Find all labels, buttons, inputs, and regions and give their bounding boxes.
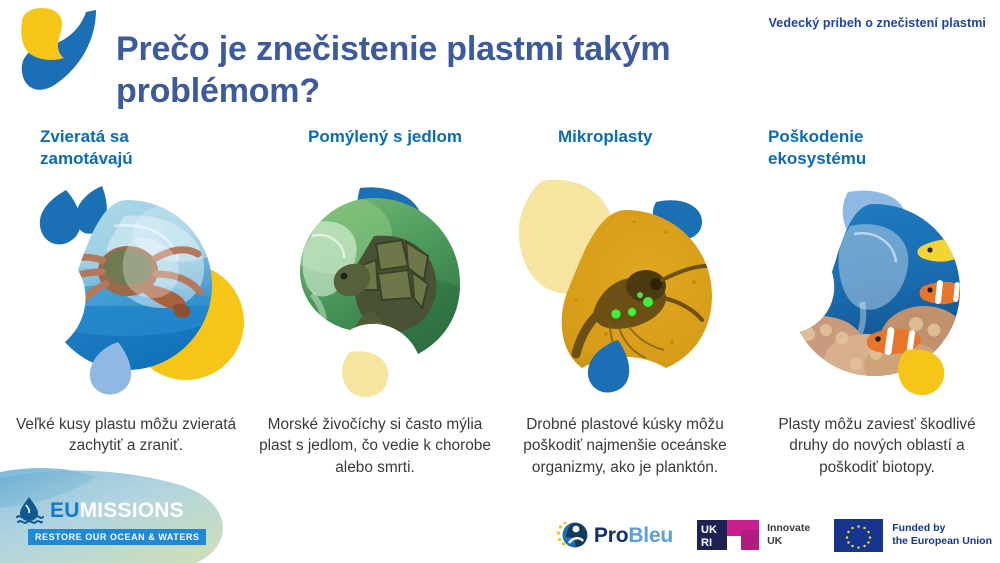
column-microplastics: Mikroplasty [500, 126, 750, 516]
column-ecosystem-damage: Poškodenie ekosystému [750, 126, 1000, 516]
eu-missions-missions-text: MISSIONS [80, 499, 184, 522]
figure-plankton-microscope-microplastics [506, 174, 748, 404]
columns-container: Zvieratá sa zamotávajú [0, 126, 1000, 516]
eu-missions-wordmark: EUMISSIONS [50, 500, 184, 521]
eu-missions-lockup: EUMISSIONS RESTORE OUR OCEAN & WATERS [0, 459, 290, 563]
column-heading: Pomýlený s jedlom [308, 126, 468, 148]
column-caption: Veľké kusy plastu môžu zvieratá zachytiť… [10, 414, 242, 457]
slide-root: Vedecký príbeh o znečistení plastmi Preč… [0, 0, 1000, 563]
column-heading: Mikroplasty [558, 126, 738, 148]
funded-by-eu-logo: Funded by the European Union [834, 519, 992, 552]
ukri-mark-icon: UK RI [697, 518, 759, 552]
eu-missions-logo: EUMISSIONS RESTORE OUR OCEAN & WATERS [14, 495, 194, 547]
probleu-pro-text: Pro [594, 524, 628, 547]
column-caption: Plasty môžu zaviesť škodlivé druhy do no… [762, 414, 992, 478]
funder-logos: ProBleu UK RI Innovate UK [556, 515, 992, 555]
svg-text:UK: UK [701, 524, 717, 536]
column-heading: Poškodenie ekosystému [768, 126, 928, 169]
innovate-uk-wordmark: Innovate UK [767, 522, 810, 547]
probleu-emblem-icon [556, 518, 590, 552]
column-caption: Drobné plastové kúsky môžu poškodiť najm… [506, 414, 744, 478]
probleu-logo: ProBleu [556, 518, 673, 552]
column-entanglement: Zvieratá sa zamotávajú [0, 126, 250, 516]
eu-missions-tagline: RESTORE OUR OCEAN & WATERS [28, 529, 206, 545]
eu-missions-eu-text: EU [50, 499, 80, 522]
svg-text:RI: RI [701, 537, 712, 549]
brand-logo-icon [8, 4, 112, 108]
eyebrow-label: Vedecký príbeh o znečistení plastmi [769, 16, 986, 30]
page-title: Prečo je znečistenie plastmi takým probl… [116, 28, 756, 112]
funded-by-line1: Funded by [892, 522, 992, 535]
funded-by-line2: the European Union [892, 535, 992, 548]
figure-crab-tangled-in-plastic-bag [6, 174, 248, 404]
eu-flag-icon [834, 519, 883, 552]
funded-by-eu-wordmark: Funded by the European Union [892, 522, 992, 548]
probleu-wordmark: ProBleu [594, 525, 673, 546]
column-caption: Morské živočíchy si často mýlia plast s … [256, 414, 494, 478]
innovate-uk-line1: Innovate [767, 522, 810, 535]
probleu-bleu-text: Bleu [628, 524, 673, 547]
innovate-uk-logo: UK RI Innovate UK [697, 518, 810, 552]
figure-sea-turtle-with-plastic-bag [256, 174, 498, 404]
water-drop-icon [14, 495, 44, 525]
innovate-uk-line2: UK [767, 535, 810, 548]
figure-coral-reef-clownfish-plastic [756, 174, 998, 404]
column-mistaken-for-food: Pomýlený s jedlom [250, 126, 500, 516]
column-heading: Zvieratá sa zamotávajú [40, 126, 200, 169]
